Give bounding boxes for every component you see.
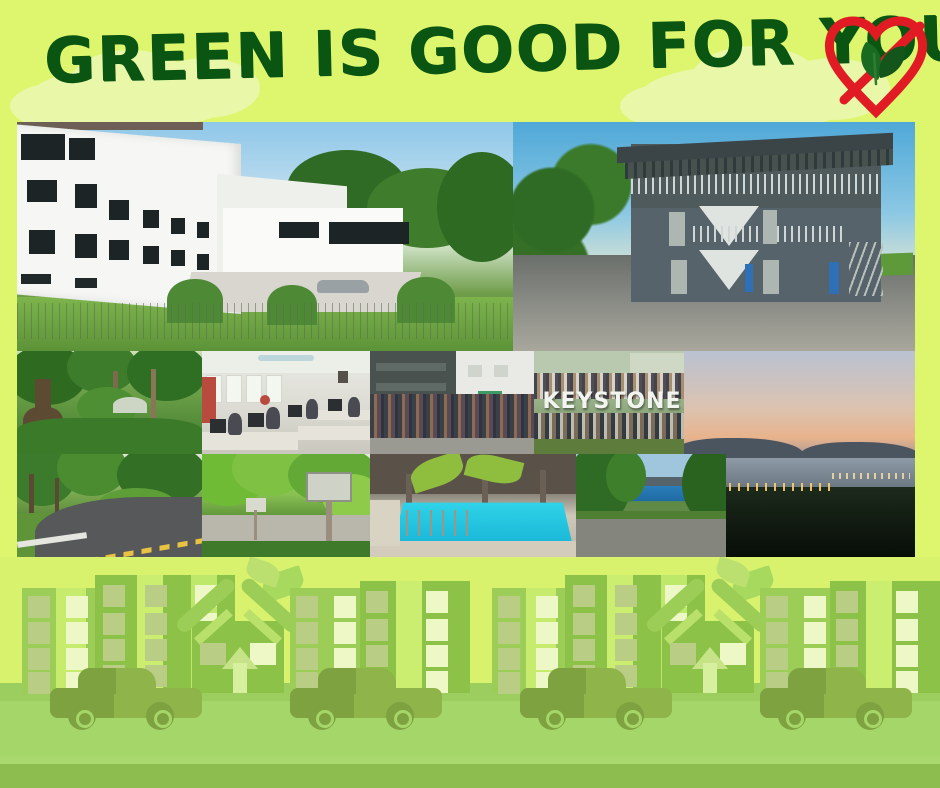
poster-root: GREEN IS GOOD FOR YOU	[0, 0, 940, 788]
photo-collage: KEYSTONE	[17, 122, 915, 557]
photo-basketball-court	[202, 454, 370, 557]
photo-office	[202, 351, 370, 454]
photo-sea-view	[576, 454, 726, 557]
eco-car-right	[290, 672, 442, 730]
photo-group-photo	[370, 351, 534, 454]
keystone-sign-text: KEYSTONE	[540, 389, 684, 415]
eco-city-illustration	[0, 557, 940, 788]
photo-swimming-pool	[370, 454, 576, 557]
photo-modern-building	[513, 122, 915, 351]
collage-row-middle: KEYSTONE	[17, 351, 915, 454]
collage-row-top	[17, 122, 915, 351]
eco-city-tile	[0, 557, 470, 788]
poster-header: GREEN IS GOOD FOR YOU	[0, 0, 940, 122]
eco-car-left	[50, 672, 202, 730]
eco-ground-strip-dark	[0, 764, 940, 788]
photo-forest	[17, 351, 202, 454]
eco-city-tile	[470, 557, 940, 788]
photo-keystone-sign: KEYSTONE	[534, 351, 684, 454]
heart-leaf-logo	[816, 4, 934, 122]
eco-car-right	[760, 672, 912, 730]
photo-dormitory	[17, 122, 513, 351]
eco-ground-strip-light	[0, 756, 940, 764]
photo-road	[17, 454, 202, 557]
eco-car-left	[520, 672, 672, 730]
